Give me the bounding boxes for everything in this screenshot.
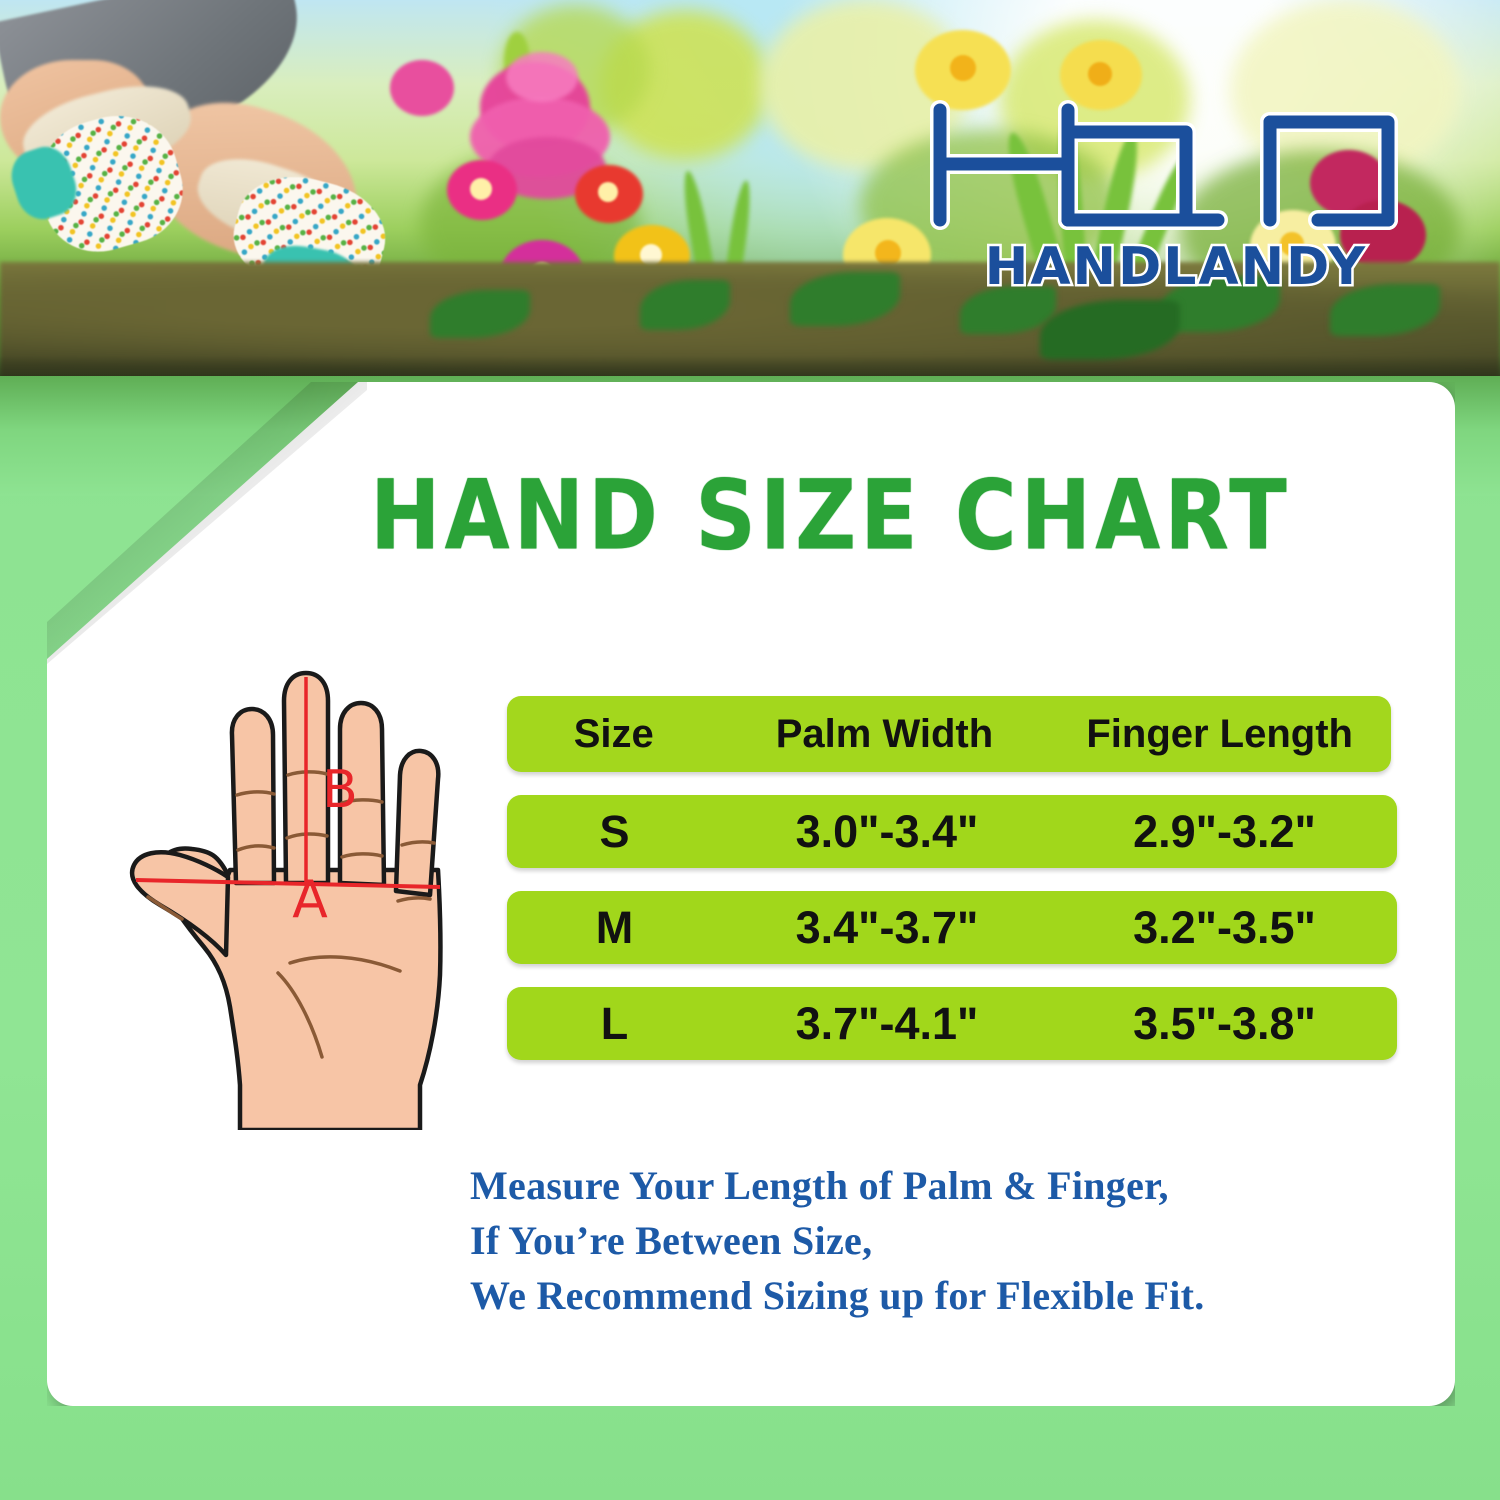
cell-palm-width: 3.4"-3.7": [722, 902, 1052, 954]
table-row: S 3.0"-3.4" 2.9"-3.2": [507, 795, 1397, 868]
cell-finger-length: 2.9"-3.2": [1052, 806, 1397, 858]
cell-finger-length: 3.2"-3.5": [1052, 902, 1397, 954]
cell-palm-width: 3.0"-3.4": [722, 806, 1052, 858]
size-table: Size Palm Width Finger Length S 3.0"-3.4…: [507, 696, 1397, 1083]
cell-size: S: [507, 806, 722, 858]
flower: [390, 60, 454, 116]
finger-length-label: B: [322, 760, 358, 820]
flower-center: [470, 178, 492, 200]
thumb: [132, 852, 228, 955]
header-size: Size: [507, 712, 721, 757]
page-title: HAND SIZE CHART: [370, 464, 1389, 567]
sizing-note-line-2: If You’re Between Size,: [470, 1213, 1410, 1268]
pinky-finger: [396, 751, 438, 895]
cell-size: M: [507, 902, 722, 954]
table-row: L 3.7"-4.1" 3.5"-3.8": [507, 987, 1397, 1060]
flower-center: [950, 55, 976, 81]
hand-measurement-diagram: A B: [100, 655, 490, 1130]
flower-center: [1088, 62, 1112, 86]
cell-palm-width: 3.7"-4.1": [722, 998, 1052, 1050]
gardening-photo-banner: HANDLANDY: [0, 0, 1500, 382]
palm-width-label: A: [292, 870, 328, 930]
table-row: M 3.4"-3.7" 3.2"-3.5": [507, 891, 1397, 964]
logo-wordmark: HANDLANDY: [985, 237, 1367, 292]
cell-size: L: [507, 998, 722, 1050]
sizing-note-line-3: We Recommend Sizing up for Flexible Fit.: [470, 1268, 1410, 1323]
sizing-note: Measure Your Length of Palm & Finger, If…: [470, 1158, 1410, 1323]
cell-finger-length: 3.5"-3.8": [1052, 998, 1397, 1050]
table-header-row: Size Palm Width Finger Length: [507, 696, 1391, 772]
handlandy-logo: HANDLANDY: [918, 92, 1438, 292]
header-palm-width: Palm Width: [721, 712, 1049, 757]
header-finger-length: Finger Length: [1048, 712, 1391, 757]
flower-center: [598, 182, 618, 202]
sizing-note-line-1: Measure Your Length of Palm & Finger,: [470, 1158, 1410, 1213]
